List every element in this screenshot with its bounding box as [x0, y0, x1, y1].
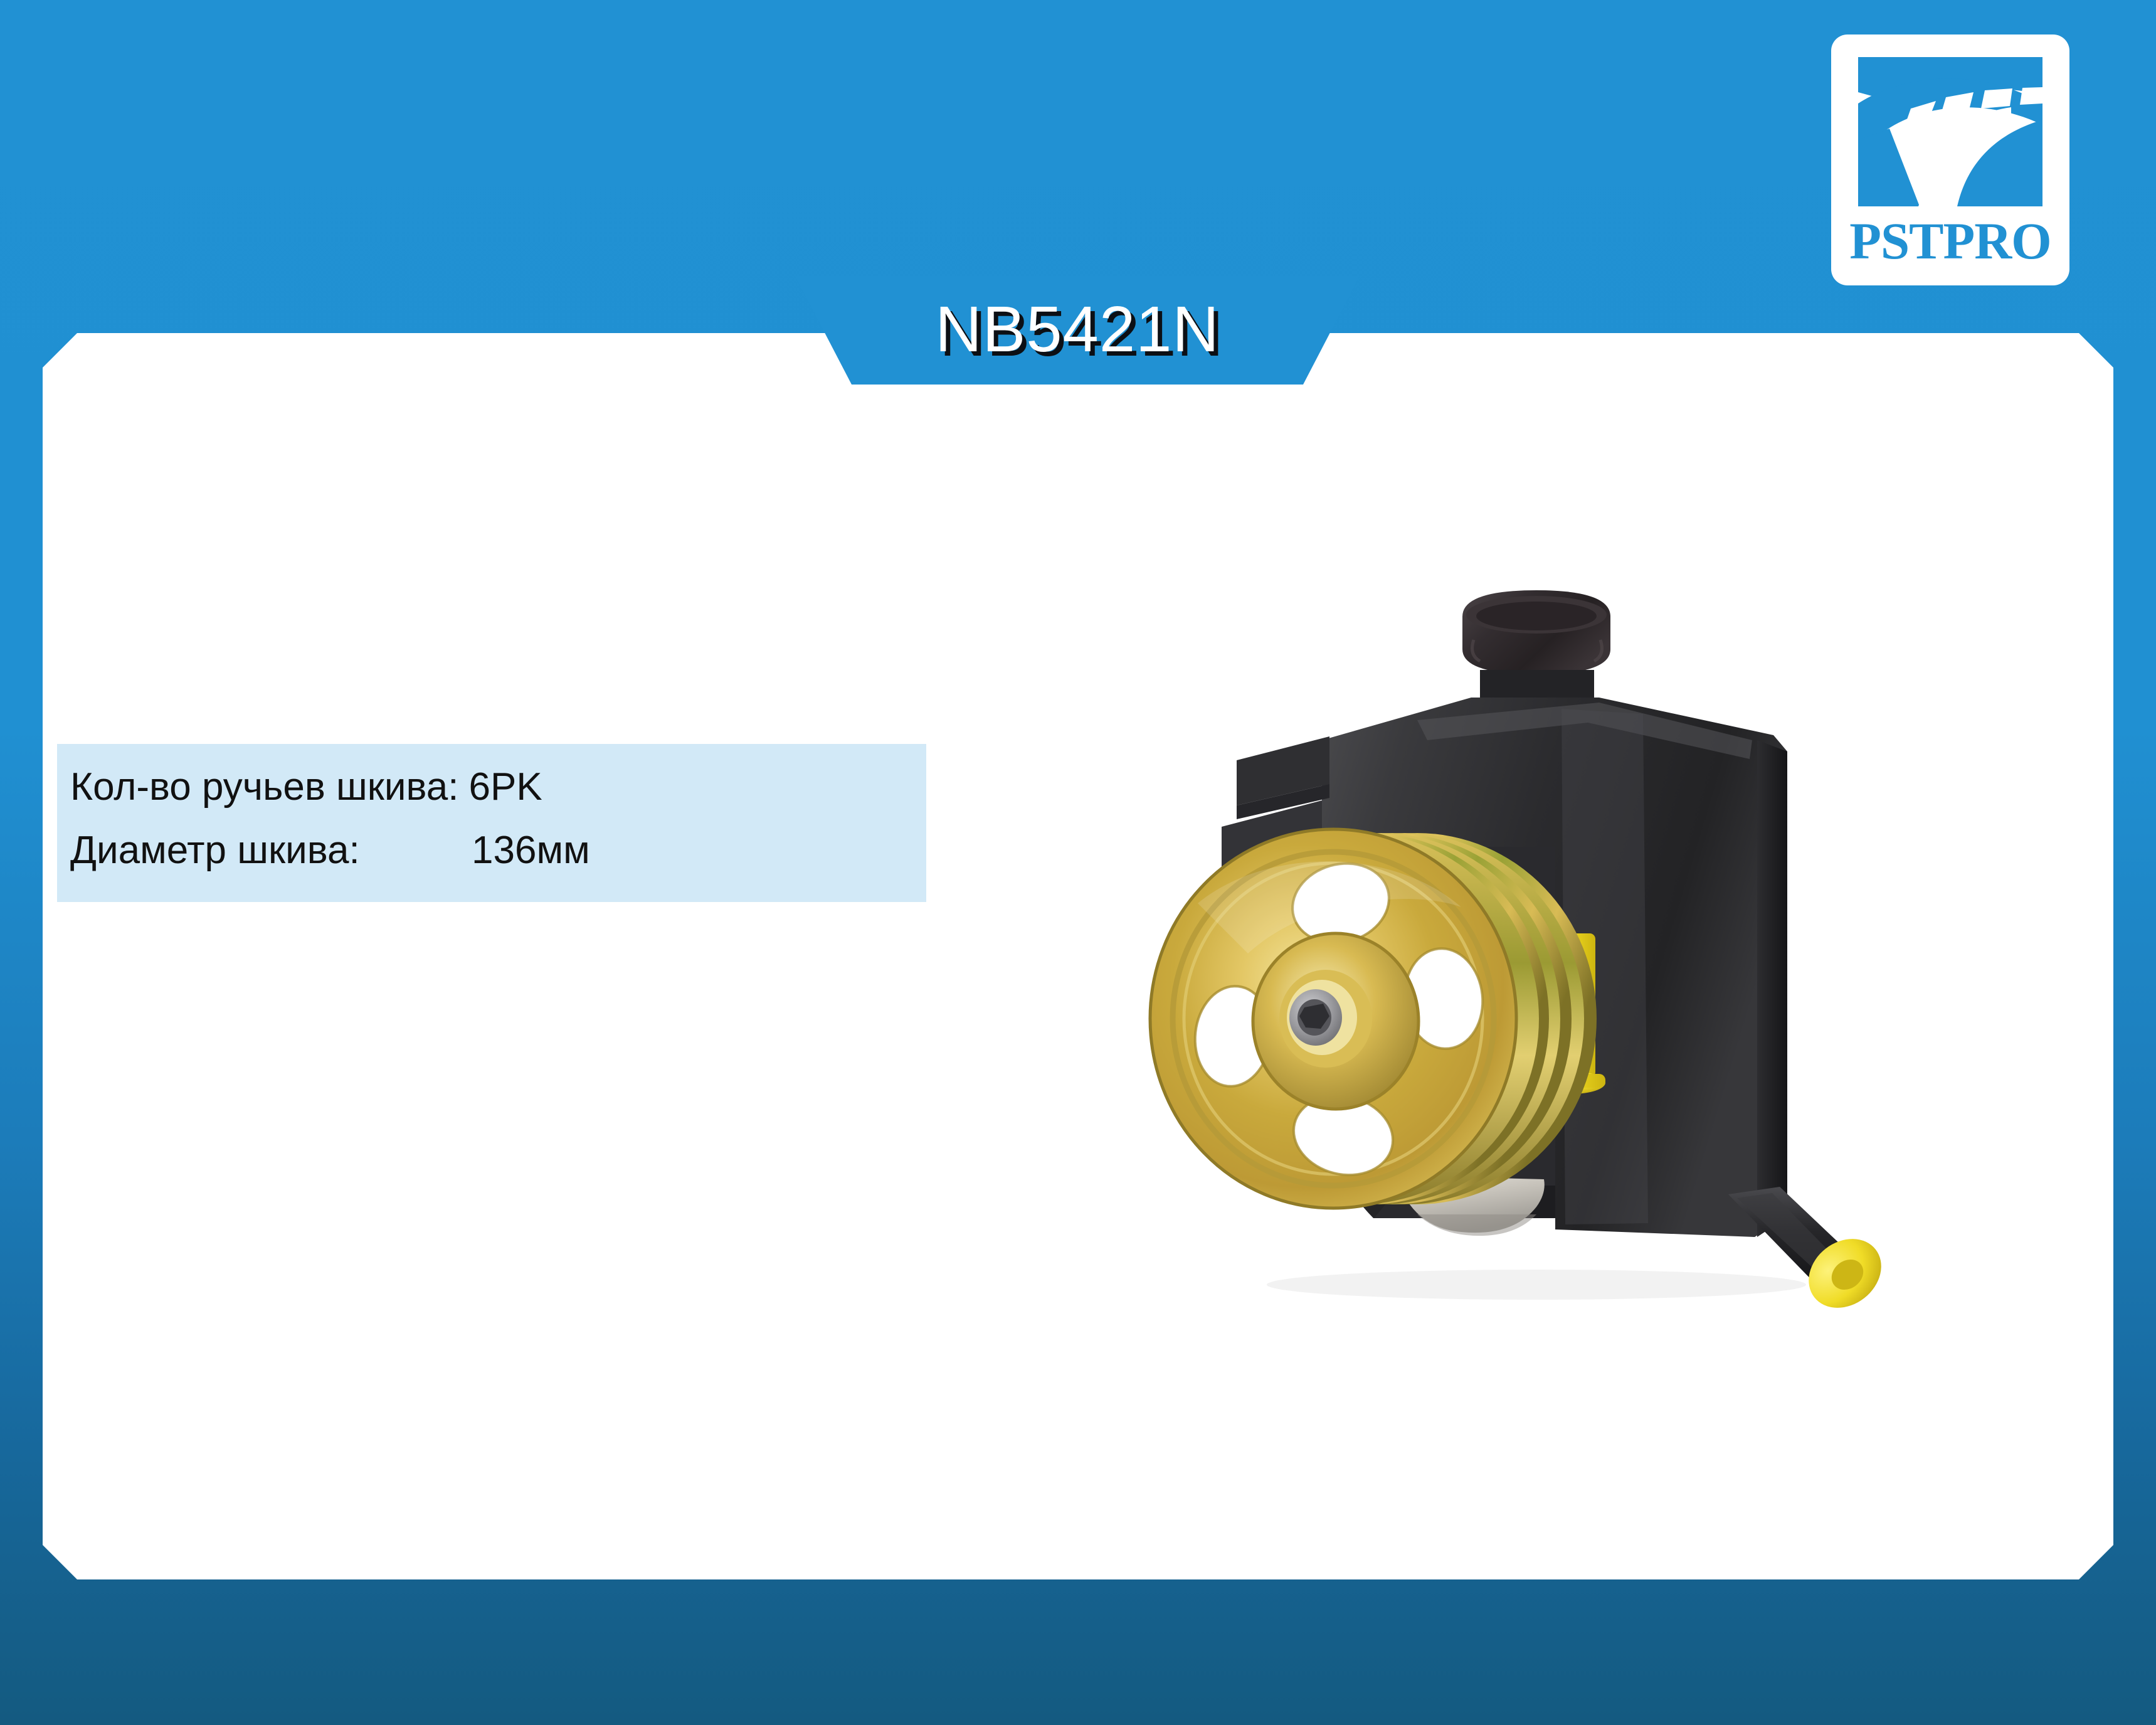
pulley	[1150, 829, 1597, 1208]
article-number-banner: NB5421N	[795, 276, 1360, 385]
spec-label-pulley-diameter: Диаметр шкива:	[70, 830, 472, 871]
spec-label-pulley-grooves: Кол-во ручьев шкива:	[70, 767, 459, 807]
outlet-nipple	[1728, 1187, 1895, 1322]
spec-value-pulley-diameter: 136мм	[472, 830, 590, 871]
spec-value-pulley-grooves: 6PK	[469, 767, 542, 807]
brand-name: PSTPRO	[1849, 215, 2051, 267]
road-bridge-icon	[1851, 46, 2050, 214]
product-image	[1123, 552, 2000, 1380]
product-card: NB5421N	[0, 0, 2156, 1725]
reservoir-cap-shape	[1462, 590, 1610, 674]
spec-row: Диаметр шкива: 136мм	[70, 830, 926, 871]
spec-row: Кол-во ручьев шкива: 6PK	[70, 767, 926, 807]
brand-logo: PSTPRO	[1831, 34, 2069, 285]
specifications-box: Кол-во ручьев шкива: 6PK Диаметр шкива: …	[57, 744, 926, 902]
article-number: NB5421N	[935, 297, 1220, 361]
